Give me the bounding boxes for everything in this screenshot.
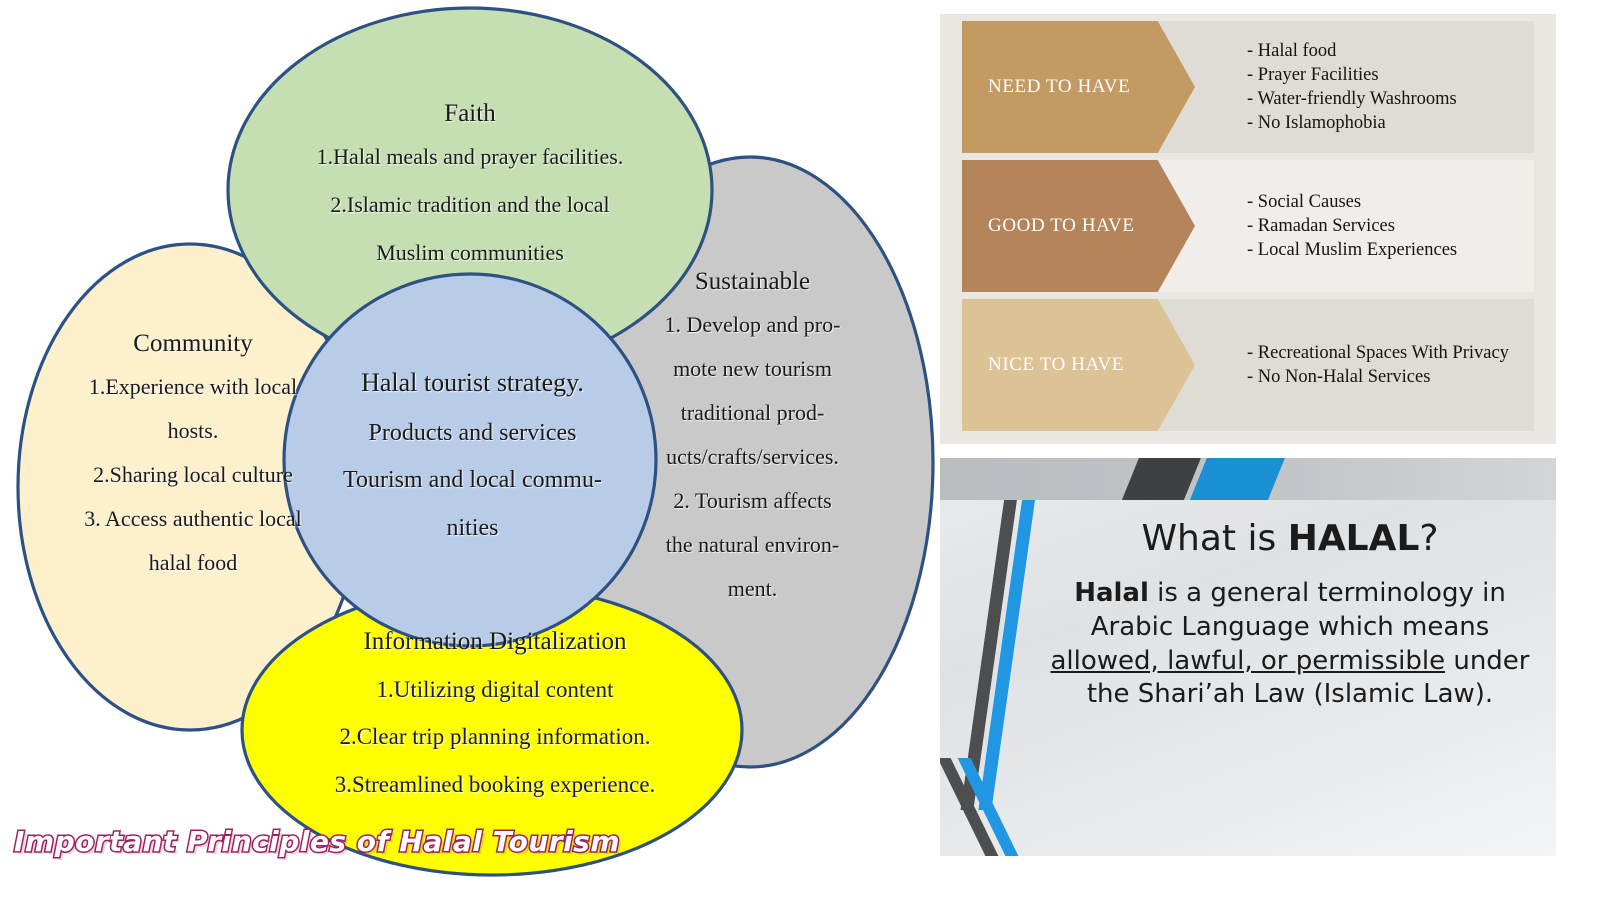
halal-heading-bold: HALAL xyxy=(1288,518,1420,559)
halal-body-bold: Halal xyxy=(1074,578,1149,608)
halal-body: Halal is a general terminology in Arabic… xyxy=(1040,577,1540,712)
chevron-label-need-to-have: NEED TO HAVE xyxy=(962,76,1130,98)
topbar-blue-parallelogram xyxy=(1187,458,1288,500)
need-item-3: - Water-friendly Washrooms xyxy=(1247,87,1457,111)
slide-top-bar xyxy=(940,458,1556,500)
priority-row-nice-to-have: NICE TO HAVE - Recreational Spaces With … xyxy=(962,299,1534,431)
halal-principles-venn-diagram: Faith 1.Halal meals and prayer facilitie… xyxy=(0,0,935,900)
need-item-4: - No Islamophobia xyxy=(1247,111,1457,135)
priority-row-need-to-have: NEED TO HAVE - Halal food - Prayer Facil… xyxy=(962,21,1534,153)
chevron-good-to-have: GOOD TO HAVE xyxy=(962,160,1195,292)
nice-item-2: - No Non-Halal Services xyxy=(1247,365,1509,389)
topbar-dark-parallelogram xyxy=(1119,458,1204,500)
priority-items-need-to-have: - Halal food - Prayer Facilities - Water… xyxy=(1195,39,1457,135)
good-item-3: - Local Muslim Experiences xyxy=(1247,238,1457,262)
need-item-2: - Prayer Facilities xyxy=(1247,63,1457,87)
halal-body-part1: is a general terminology in Arabic Langu… xyxy=(1091,578,1506,642)
good-item-1: - Social Causes xyxy=(1247,190,1457,214)
diagram-banner-title: Important Principles of Halal Tourism xyxy=(14,825,620,858)
halal-heading: What is HALAL? xyxy=(1040,518,1540,559)
chevron-label-nice-to-have: NICE TO HAVE xyxy=(962,354,1124,376)
halal-slide: What is HALAL? Halal is a general termin… xyxy=(940,458,1556,856)
priority-row-good-to-have: GOOD TO HAVE - Social Causes - Ramadan S… xyxy=(962,160,1534,292)
priority-items-good-to-have: - Social Causes - Ramadan Services - Loc… xyxy=(1195,190,1457,262)
panel-top-spacer xyxy=(940,14,1556,21)
venn-shapes xyxy=(0,0,935,900)
center-circle xyxy=(284,274,656,646)
halal-text-area: What is HALAL? Halal is a general termin… xyxy=(1040,518,1540,712)
need-item-1: - Halal food xyxy=(1247,39,1457,63)
halal-body-underlined: allowed, lawful, or permissible xyxy=(1051,646,1446,676)
chevron-nice-to-have: NICE TO HAVE xyxy=(962,299,1195,431)
halal-priority-panel: NEED TO HAVE - Halal food - Prayer Facil… xyxy=(940,14,1556,444)
halal-heading-suffix: ? xyxy=(1419,518,1438,559)
chevron-need-to-have: NEED TO HAVE xyxy=(962,21,1195,153)
good-item-2: - Ramadan Services xyxy=(1247,214,1457,238)
halal-heading-prefix: What is xyxy=(1141,518,1287,559)
panel-row-spacer-2 xyxy=(940,292,1556,299)
nice-item-1: - Recreational Spaces With Privacy xyxy=(1247,341,1509,365)
priority-items-nice-to-have: - Recreational Spaces With Privacy - No … xyxy=(1195,341,1509,389)
chevron-label-good-to-have: GOOD TO HAVE xyxy=(962,215,1135,237)
what-is-halal-panel: What is HALAL? Halal is a general termin… xyxy=(940,452,1556,864)
panel-row-spacer-1 xyxy=(940,153,1556,160)
